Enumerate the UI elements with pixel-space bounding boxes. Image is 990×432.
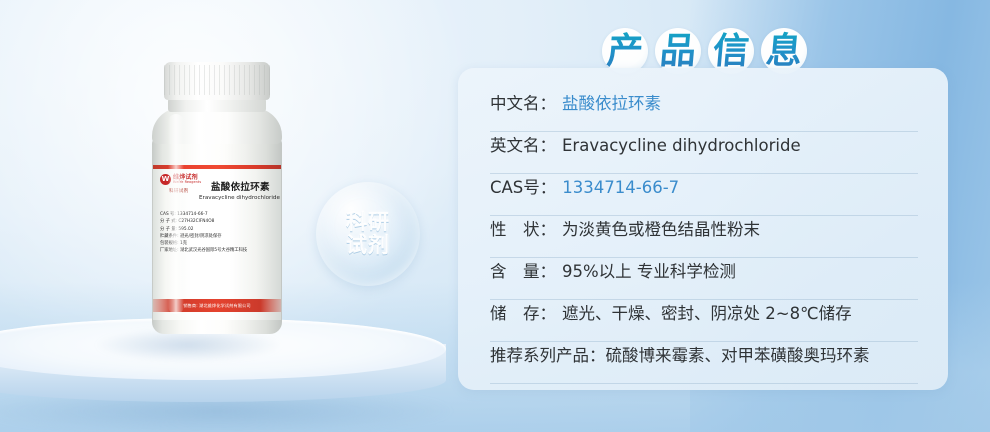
bottle-shoulder — [152, 108, 282, 144]
research-reagent-bubble: 科研 试剂 — [316, 182, 420, 286]
row-value: 95%以上 专业科学检测 — [562, 258, 736, 282]
row-label: 含 量： — [490, 258, 556, 282]
label-company-band: 销售商: 湖北维烨化学试剂有限公司 — [153, 299, 281, 312]
row-label: 中文名： — [490, 90, 556, 114]
info-row-appearance: 性 状： 为淡黄色或橙色结晶性粉末 — [490, 216, 918, 258]
label-spec-line: 厂家地址: 湖北武汉光谷国际5号大谷精工科技 — [160, 247, 278, 254]
title-char-1: 产 — [605, 31, 645, 71]
label-red-topbar — [153, 165, 281, 169]
bubble-line-2: 试剂 — [346, 234, 390, 257]
label-product-english-name: Eravacycline dihydrochloride — [199, 195, 280, 201]
info-row-english-name: 英文名： Eravacycline dihydrochloride — [490, 132, 918, 174]
label-specs-list: CAS 号: 1334714-66-7 分 子 式: C27H32ClFN4O8… — [160, 211, 278, 255]
bottle-label: W 维烨试剂 WeiYe Reagents 科研试剂 盐酸依拉环素 Eravac… — [153, 165, 281, 320]
product-info-banner: W 维烨试剂 WeiYe Reagents 科研试剂 盐酸依拉环素 Eravac… — [0, 0, 990, 432]
row-label: 性 状： — [490, 216, 556, 240]
bubble-line-1: 科研 — [346, 211, 390, 234]
row-value: 1334714-66-7 — [562, 178, 679, 197]
info-row-chinese-name: 中文名： 盐酸依拉环素 — [490, 90, 918, 132]
bubble-label: 科研 试剂 — [346, 211, 390, 257]
reagent-bottle: W 维烨试剂 WeiYe Reagents 科研试剂 盐酸依拉环素 Eravac… — [150, 62, 284, 337]
label-spec-line: 贮藏条件: 避光/密封/阴凉处保存 — [160, 233, 278, 240]
logo-english-name: WeiYe Reagents — [173, 181, 201, 184]
label-spec-line: 包装规格: 1克 — [160, 240, 278, 247]
bottle-neck — [168, 98, 266, 112]
info-rows: 中文名： 盐酸依拉环素 英文名： Eravacycline dihydrochl… — [490, 90, 918, 384]
info-row-storage: 储 存： 遮光、干燥、密封、阴凉处 2~8℃储存 — [490, 300, 918, 342]
info-row-cas-number: CAS号： 1334714-66-7 — [490, 174, 918, 216]
title-char-2: 品 — [658, 31, 698, 71]
label-spec-line: 分 子 量: 595.02 — [160, 226, 278, 233]
logo-subtitle: 科研试剂 — [169, 188, 189, 194]
row-value: 盐酸依拉环素 — [562, 90, 661, 114]
info-row-purity: 含 量： 95%以上 专业科学检测 — [490, 258, 918, 300]
title-char-3: 信 — [711, 31, 751, 71]
label-product-chinese-name: 盐酸依拉环素 — [211, 179, 270, 193]
brand-logo: W 维烨试剂 WeiYe Reagents — [160, 174, 201, 185]
logo-mark-icon: W — [160, 174, 171, 185]
info-row-recommended-products: 推荐系列产品：硫酸博来霉素、对甲苯磺酸奥玛环素 — [490, 342, 918, 384]
row-label: CAS号： — [490, 174, 556, 198]
row-value: 为淡黄色或橙色结晶性粉末 — [562, 216, 760, 240]
row-label: 储 存： — [490, 300, 556, 324]
row-label: 英文名： — [490, 132, 556, 156]
row-value: Eravacycline dihydrochloride — [562, 136, 801, 155]
info-panel: 中文名： 盐酸依拉环素 英文名： Eravacycline dihydrochl… — [458, 68, 948, 390]
title-char-4: 息 — [764, 31, 804, 71]
label-spec-line: 分 子 式: C27H32ClFN4O8 — [160, 218, 278, 225]
row-value: 遮光、干燥、密封、阴凉处 2~8℃储存 — [562, 300, 852, 324]
row-value: 推荐系列产品：硫酸博来霉素、对甲苯磺酸奥玛环素 — [490, 342, 870, 366]
label-spec-line: CAS 号: 1334714-66-7 — [160, 211, 278, 218]
bottle-cap-ribs — [164, 65, 270, 95]
